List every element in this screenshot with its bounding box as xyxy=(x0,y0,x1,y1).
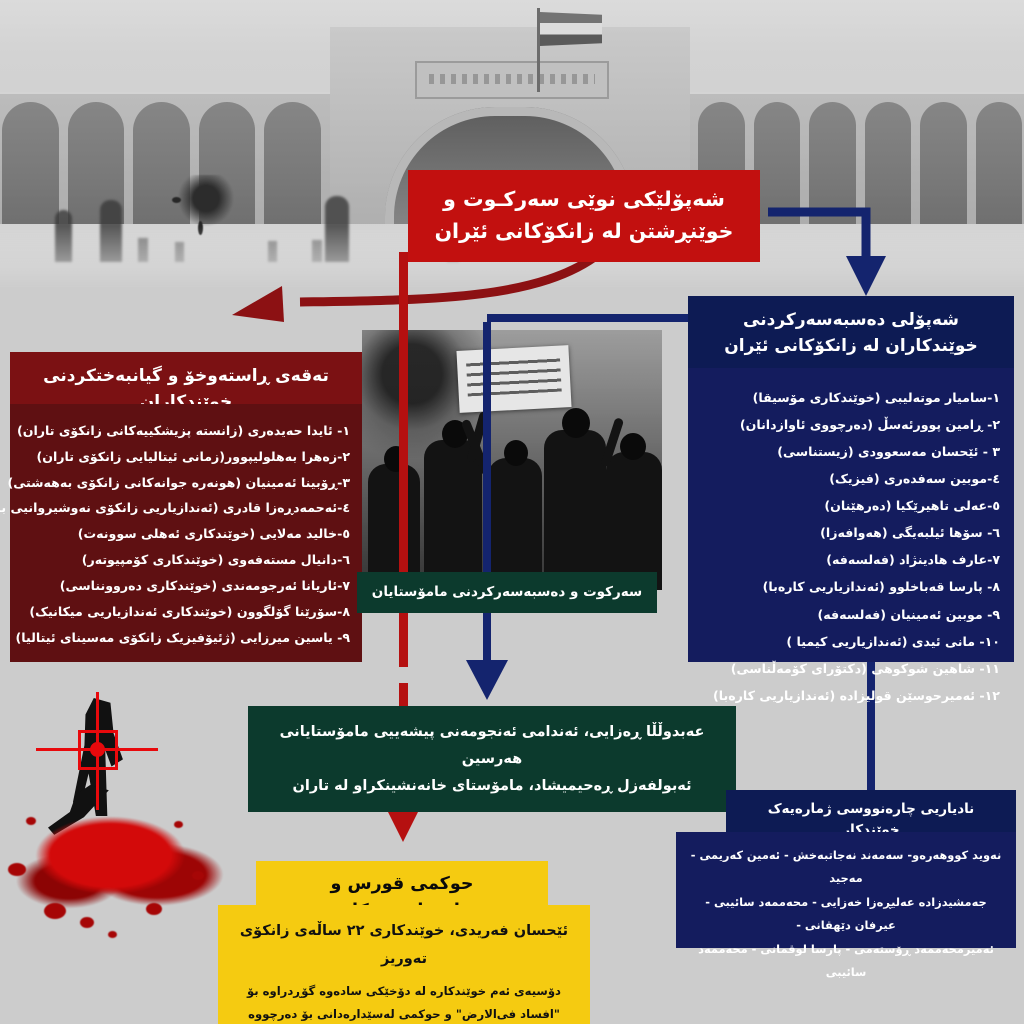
list-item: ٢- ڕامین پوورئەسڵ (دەرچووی ئاوازدانان) xyxy=(702,411,1000,438)
list-item: ٦- سۆها ئیلبەیگی (هەوافەزا) xyxy=(702,519,1000,546)
right-section-list: ١-سامیار موتەلیبی (خوێندکاری مۆسیقا) ٢- … xyxy=(688,368,1014,662)
list-item: ٥-عەلی تاهیرێکیا (دەرهێنان) xyxy=(702,492,1000,519)
main-title-banner: شەپۆلێکی نوێی سەرکـوت و خوێنڕشتن لە زانک… xyxy=(408,170,760,262)
pedestrian-silhouette xyxy=(138,238,148,262)
flag-icon xyxy=(540,12,602,46)
teacher-entry-2: ئەبولفەزل ڕەحیمیشاد، مامۆستای خانەنشینکر… xyxy=(264,773,720,800)
pedestrian-silhouette xyxy=(175,242,184,262)
flag-pole xyxy=(537,8,540,92)
pedestrian-silhouette xyxy=(55,210,72,262)
list-item: ١-سامیار موتەلیبی (خوێندکاری مۆسیقا) xyxy=(702,384,1000,411)
detained-students-list: ١-سامیار موتەلیبی (خوێندکاری مۆسیقا) ٢- … xyxy=(702,384,1000,709)
unknown-fate-body: نەوید کووهەرەو- سەمەند نەجاتبەخش - ئەمین… xyxy=(676,832,1016,948)
list-item: ٣ - ئێحسان مەسعوودی (زیستناسی) xyxy=(702,438,1000,465)
blood-splatter-icon xyxy=(178,175,234,227)
list-item: ١- ئایدا حەیدەری (زانستە پزیشکییەکانی زا… xyxy=(22,418,350,444)
pedestrian-silhouette xyxy=(312,240,322,262)
infographic-canvas: شەپۆلێکی نوێی سەرکـوت و خوێنڕشتن لە زانک… xyxy=(0,0,1024,1024)
verdict-sub-line1: دۆسیەی ئەم خوێندکارە لە دۆخێکی سادەوە گۆ… xyxy=(234,980,574,1003)
pedestrian-silhouette xyxy=(325,196,349,262)
teachers-detail-box: عەبدوڵڵا ڕەزایی، ئەندامی ئەنجومەنی پیشەی… xyxy=(248,706,736,812)
list-item: ٩- یاسین میرزایی (ژئیۆفیزیک زانکۆی مەسین… xyxy=(22,625,350,651)
list-item: ٧-عارف هادینژاد (فەلسەفە) xyxy=(702,546,1000,573)
list-item: ٣-ڕۆبینا ئەمینیان (هونەرە جوانەکانی زانک… xyxy=(22,470,350,496)
list-item: ١٢- ئەمیرحوسێن قولیزاده (ئەندازیاریی کار… xyxy=(702,682,1000,709)
protest-banner xyxy=(456,345,571,413)
list-item: ٩- موبین ئەمینیان (فەلسەفە) xyxy=(702,601,1000,628)
list-item: ٧-ئاریانا ئەرجومەندی (خوێندکاری دەرووننا… xyxy=(22,573,350,599)
right-header-line2: خوێندکاران لە زانکۆکانی ئێران xyxy=(702,333,1000,359)
unknown-fate-line2: جەمشیدزادە عەلیڕەزا خەزایی - محەممەد سائ… xyxy=(690,891,1002,938)
teachers-section-header: سەرکوت و دەسبەسەرکردنی مامۆستایان xyxy=(357,572,657,613)
list-item: ٥-خالید مەلایی (خوێندکاری ئەهلی سوونەت) xyxy=(22,521,350,547)
list-item: ٨-سۆرێنا گۆلگوون (خوێندکاری ئەندازیاریی … xyxy=(22,599,350,625)
gate-inscription-plaque xyxy=(415,61,609,99)
verdict-lead: ئێحسان فەریدی، خوێندکاری ٢٢ ساڵەی زانکۆی… xyxy=(234,918,574,973)
unknown-fate-line1: نەوید کووهەرەو- سەمەند نەجاتبەخش - ئەمین… xyxy=(690,844,1002,891)
left-section-list: ١- ئایدا حەیدەری (زانستە پزیشکییەکانی زا… xyxy=(10,404,362,662)
crosshair-icon xyxy=(54,706,140,792)
right-header-line1: شەپۆلی دەسبەسەرکردنی xyxy=(702,307,1000,333)
teacher-entry-1: عەبدوڵڵا ڕەزایی، ئەندامی ئەنجومەنی پیشەی… xyxy=(264,719,720,773)
main-title-line1: شەپۆلێکی نوێی سەرکـوت و xyxy=(424,184,744,216)
right-section-header: شەپۆلی دەسبەسەرکردنی خوێندکاران لە زانکۆ… xyxy=(688,296,1014,371)
list-item: ٢-زەهرا بەهلولیپوور(زمانی ئیتالیایی زانک… xyxy=(22,444,350,470)
unknown-fate-line3: ئەمیرمحەممەد ڕۆستەمی - پارسا لوقمانی - م… xyxy=(690,938,1002,985)
killed-students-list: ١- ئایدا حەیدەری (زانستە پزیشکییەکانی زا… xyxy=(22,418,350,650)
list-item: ٨- پارسا قەباخلوو (ئەندازیاریی کارەبا) xyxy=(702,573,1000,600)
pedestrian-silhouette xyxy=(268,241,277,262)
list-item: ١٠- مانی ئیدی (ئەندازیاریی کیمیا ) xyxy=(702,628,1000,655)
main-title-line2: خوێنڕشتن لە زانکۆکانی ئێران xyxy=(424,216,744,248)
list-item: ١١- شاهین شوکوهی (دکتۆرای کۆمەڵناسی) xyxy=(702,655,1000,682)
list-item: ٤-موبین سەفدەری (فیزیک) xyxy=(702,465,1000,492)
list-item: ٦-دانیال مستەفەوی (خوێندکاری کۆمپیوتەر) xyxy=(22,547,350,573)
verdict-sub-line2: "افساد فی‌الارض" و حوکمی لەسێدارەدانی بۆ… xyxy=(234,1003,574,1024)
verdict-body: ئێحسان فەریدی، خوێندکاری ٢٢ ساڵەی زانکۆی… xyxy=(218,905,590,1024)
protest-photo xyxy=(362,330,662,590)
pedestrian-silhouette xyxy=(100,200,122,262)
list-item: ٤-ئەحمەدڕەزا قادری (ئەندازیاریی زانکۆی ن… xyxy=(22,495,350,521)
protesters-crowd xyxy=(362,415,662,590)
